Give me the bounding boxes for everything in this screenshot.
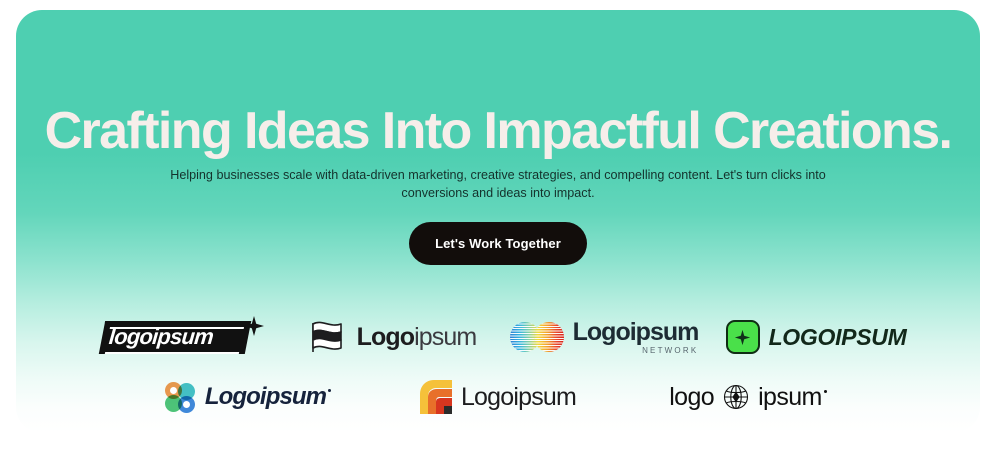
logo-cell-logoipsum-banner[interactable]: logoipsum bbox=[74, 306, 286, 368]
logo-wordmark: LOGOIPSUM bbox=[769, 324, 907, 351]
page-title: Crafting Ideas Into Impactful Creations. bbox=[16, 100, 980, 162]
logo-row-2: Logoipsum Logoipsum bbox=[16, 368, 980, 426]
logo-wordmark: logoipsum bbox=[108, 324, 260, 350]
logo-wordmark-text: ipsum bbox=[758, 383, 822, 411]
logo-cell-logo-globe-ipsum[interactable]: logo ipsum bbox=[623, 368, 873, 426]
green-square-sparkle-icon bbox=[726, 320, 760, 354]
logo-cell-logoipsum-green[interactable]: LOGOIPSUM bbox=[710, 306, 922, 368]
logoipsum-flag-logo: Logoipsum bbox=[308, 319, 477, 355]
sparkle-icon bbox=[244, 316, 264, 336]
logo-wordmark-right: ipsum bbox=[758, 383, 827, 412]
logo-cell-logoipsum-clover[interactable]: Logoipsum bbox=[123, 368, 373, 426]
sparkle-icon bbox=[734, 329, 751, 346]
logo-cell-logoipsum-flag[interactable]: Logoipsum bbox=[286, 306, 498, 368]
logoipsum-network-logo: Logoipsum NETWORK bbox=[510, 319, 699, 355]
clover-circles-icon bbox=[165, 382, 196, 413]
logo-globe-ipsum-logo: logo ipsum bbox=[669, 382, 827, 412]
gradient-circles-icon bbox=[510, 322, 564, 352]
hero-card: Crafting Ideas Into Impactful Creations.… bbox=[16, 10, 980, 433]
logo-row-1: logoipsum bbox=[16, 306, 980, 368]
logoipsum-clover-logo: Logoipsum bbox=[165, 382, 331, 413]
logo-wordmark: Logoipsum bbox=[573, 319, 699, 345]
logo-cell-logoipsum-network[interactable]: Logoipsum NETWORK bbox=[498, 306, 710, 368]
trademark-dot-icon bbox=[824, 390, 827, 393]
logo-wordmark-bold: Logo bbox=[357, 323, 414, 351]
logoipsum-green-logo: LOGOIPSUM bbox=[726, 320, 907, 354]
flag-icon bbox=[308, 319, 348, 355]
logo-subtitle: NETWORK bbox=[573, 346, 699, 355]
logo-cell-logoipsum-arch[interactable]: Logoipsum bbox=[373, 368, 623, 426]
trademark-dot-icon bbox=[328, 389, 331, 392]
hero-subtitle: Helping businesses scale with data-drive… bbox=[142, 166, 854, 202]
arch-rainbow-icon bbox=[420, 380, 452, 414]
logo-wordmark: Logoipsum bbox=[357, 323, 477, 352]
client-logo-grid: logoipsum bbox=[16, 306, 980, 426]
logo-wordmark-text: Logoipsum bbox=[205, 383, 326, 410]
cta-container: Let's Work Together bbox=[16, 222, 980, 265]
logo-wordmark-left: logo bbox=[669, 383, 714, 412]
logo-wordmark-light: ipsum bbox=[414, 323, 476, 351]
logoipsum-arch-logo: Logoipsum bbox=[420, 380, 576, 414]
logo-wordmark: Logoipsum bbox=[205, 383, 331, 411]
lets-work-together-button[interactable]: Let's Work Together bbox=[409, 222, 587, 265]
logoipsum-banner-logo: logoipsum bbox=[100, 316, 260, 358]
logo-wordmark: Logoipsum bbox=[461, 383, 576, 412]
globe-icon bbox=[721, 382, 751, 412]
hero-page: Crafting Ideas Into Impactful Creations.… bbox=[0, 0, 995, 475]
